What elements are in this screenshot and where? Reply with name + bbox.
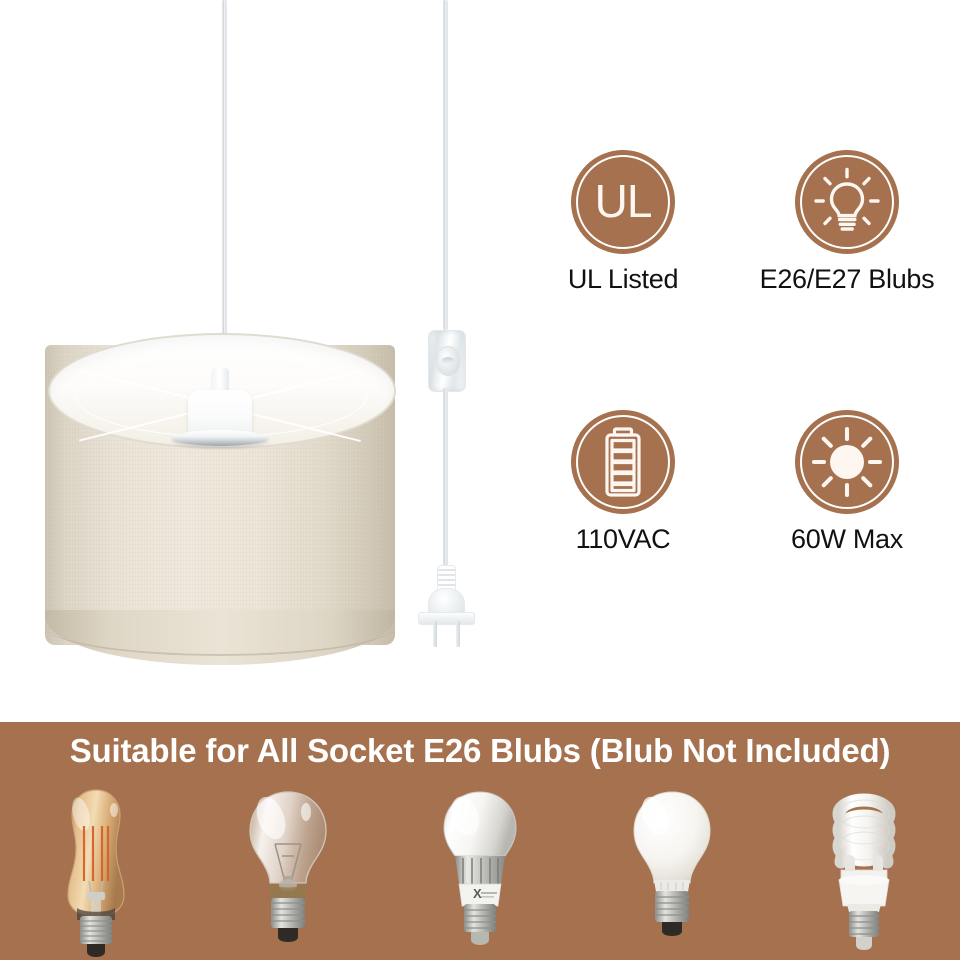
- power-cord-upper: [443, 0, 448, 330]
- badge-label: E26/E27 Blubs: [742, 264, 952, 295]
- bulb-frosted-a19: [587, 784, 757, 960]
- bulb-led-a19: X: [395, 784, 565, 960]
- lightbulb-rays-icon: [795, 150, 899, 254]
- bulbs-row: X: [0, 784, 960, 960]
- badge-ul-listed: UL UL Listed: [518, 150, 728, 295]
- plug-prong-left: [433, 621, 437, 647]
- plug-base: [418, 612, 475, 625]
- badge-label: 110VAC: [518, 524, 728, 555]
- badge-label: 60W Max: [742, 524, 952, 555]
- battery-icon: [571, 410, 675, 514]
- badge-voltage: 110VAC: [518, 410, 728, 555]
- svg-text:X: X: [473, 886, 482, 901]
- plug-prong-right: [456, 621, 460, 647]
- feature-badges: UL UL Listed: [510, 150, 960, 580]
- shade-bottom-rim: [45, 596, 395, 656]
- svg-text:UL: UL: [595, 175, 652, 227]
- badge-bulb-socket: E26/E27 Blubs: [742, 150, 952, 295]
- bulb-cfl-spiral: [779, 784, 949, 960]
- bulb-incandescent-a19: [203, 784, 373, 960]
- badge-wattage: 60W Max: [742, 410, 952, 555]
- bulb-edison-st64: [11, 784, 181, 960]
- inline-switch: [428, 330, 466, 392]
- product-infographic: UL UL Listed: [0, 0, 960, 960]
- power-cord-lower: [443, 388, 448, 573]
- hanging-cord: [222, 0, 227, 352]
- ul-mark-icon: UL: [571, 150, 675, 254]
- product-photo: [0, 0, 520, 700]
- sun-icon: [795, 410, 899, 514]
- badge-label: UL Listed: [518, 264, 728, 295]
- banner-title: Suitable for All Socket E26 Blubs (Blub …: [0, 732, 960, 770]
- chrome-ring: [172, 430, 268, 446]
- bottom-banner: Suitable for All Socket E26 Blubs (Blub …: [0, 722, 960, 960]
- switch-rocker-icon: [436, 346, 460, 376]
